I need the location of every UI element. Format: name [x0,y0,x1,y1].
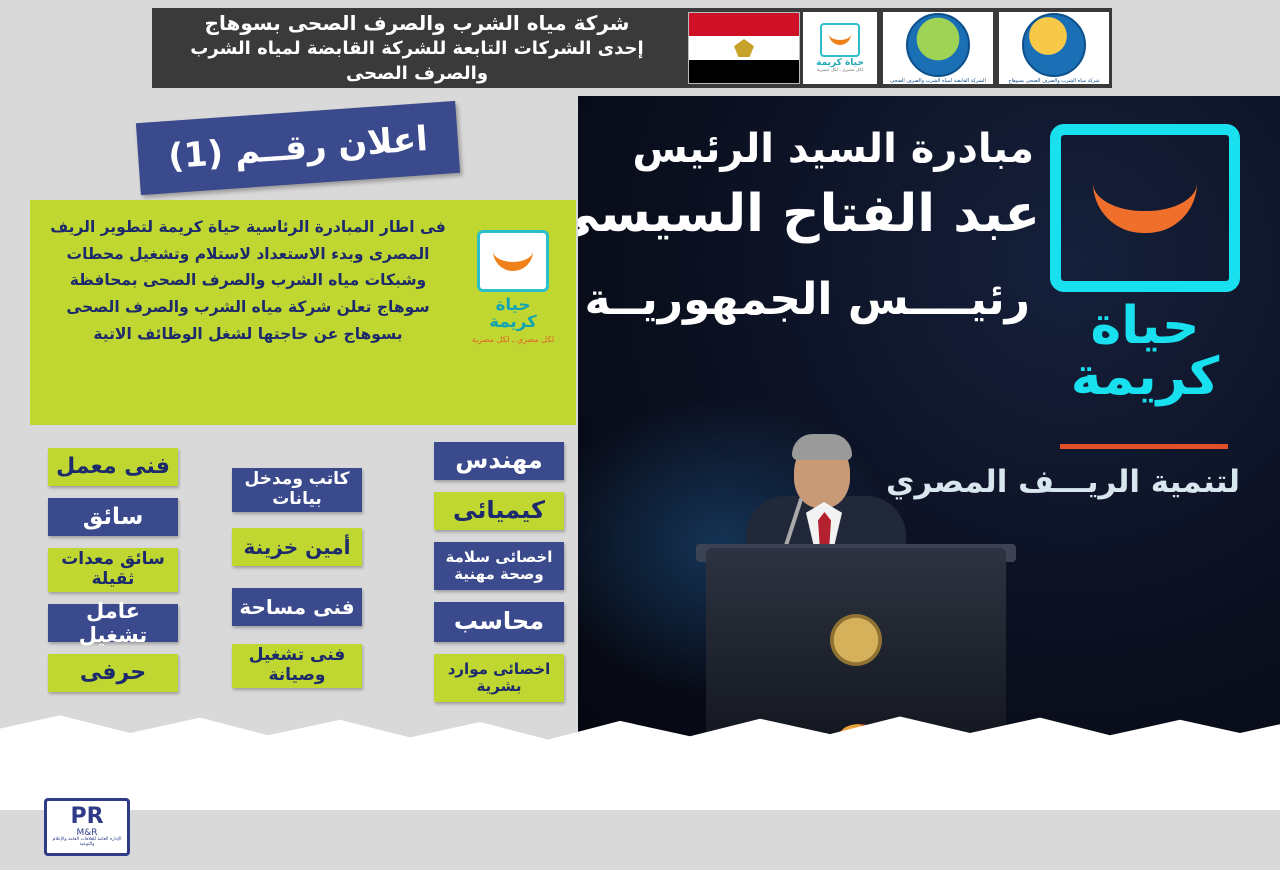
job-chip[interactable]: أمين خزينة [232,528,362,566]
intro-hayah-title: حياة كريمة [489,297,537,330]
smile-icon [1093,183,1197,233]
holding-company-logo: الشركة القابضة لمياه الشرب والصرف الصحى [883,12,993,84]
president-photo: حياة كريمة مبادرة السيد الرئيس عبد الفتا… [578,96,1280,762]
job-chip[interactable]: سائق [48,498,178,536]
photo-brand-line1: حياة [1050,301,1240,352]
company-seal-icon [1022,13,1086,77]
holding-seal-icon [906,13,970,77]
flag-red-band [689,13,799,36]
job-chip[interactable]: فنى تشغيل وصيانة [232,644,362,688]
job-chip[interactable]: محاسب [434,602,564,642]
job-chip[interactable]: حرفى [48,654,178,692]
job-chip[interactable]: فنى معمل [48,448,178,486]
eagle-icon [734,39,754,57]
hayah-title: حياة كريمة [816,59,864,68]
header-text: شركة مياه الشرب والصرف الصحى بسوهاج إحدى… [152,10,682,86]
flag-black-band [689,60,799,83]
job-chip[interactable]: اخصائى موارد بشرية [434,654,564,702]
job-chip[interactable]: مهندس [434,442,564,480]
photo-line-3: رئيــــس الجمهوريــة [584,274,1030,325]
brand-underline [1060,444,1228,449]
smile-icon [829,34,851,45]
announcement-label: اعلان رقــم (1) [167,119,429,177]
photo-line-1: مبادرة السيد الرئيس [632,126,1034,172]
poster-root: شركة مياه الشرب والصرف الصحى بسوهاج الشر… [0,0,1280,870]
header-logos: شركة مياه الشرب والصرف الصحى بسوهاج الشر… [682,8,1112,88]
intro-panel: فى اطار المبادرة الرئاسية حياة كريمة لتط… [30,200,576,425]
logo-caption: الشركة القابضة لمياه الشرب والصرف الصحى [890,78,986,84]
smile-icon [493,251,533,271]
egypt-flag [688,12,800,84]
hayah-motto: لكل مصري ـ لكل مصرية [817,68,863,73]
job-chip[interactable]: كاتب ومدخل بيانات [232,468,362,512]
photo-brand-line2: كريمة [1050,352,1240,403]
intro-hayah-line2: كريمة [489,314,537,331]
job-chip[interactable]: سائق معدات ثقيلة [48,548,178,592]
hayah-karima-logo: حياة كريمة لكل مصري ـ لكل مصرية [803,12,877,84]
photo-line-2: عبد الفتاح السيسي [578,184,1040,244]
announcement-ribbon: اعلان رقــم (1) [136,101,460,195]
job-chip[interactable]: فنى مساحة [232,588,362,626]
pr-logo-main: PR [70,806,103,828]
hair [792,434,852,460]
intro-hayah-karima-logo: حياة كريمة لكل مصري ـ لكل مصرية [458,208,568,417]
intro-body: فى اطار المبادرة الرئاسية حياة كريمة لتط… [38,208,458,417]
logo-caption: شركة مياه الشرب والصرف الصحى بسوهاج [1008,78,1099,84]
pr-logo-note: الإدارة العامة للعلاقات العامة والإعلام … [47,838,127,848]
republic-seal-icon [830,614,882,666]
pr-department-logo: PR M&R الإدارة العامة للعلاقات العامة وا… [44,798,130,856]
header-bar: شركة مياه الشرب والصرف الصحى بسوهاج الشر… [152,8,1112,88]
sohag-water-company-logo: شركة مياه الشرب والصرف الصحى بسوهاج [999,12,1109,84]
photo-brand-title: حياة كريمة [1050,301,1240,403]
job-chip[interactable]: عامل تشغيل [48,604,178,642]
job-list: فنى معمل سائق سائق معدات ثقيلة عامل تشغي… [0,440,580,720]
hayah-square-icon [477,230,549,292]
flag-white-band [689,36,799,59]
footer: PR M&R الإدارة العامة للعلاقات العامة وا… [0,786,1280,870]
hayah-square-icon [820,23,860,57]
intro-hayah-motto: لكل مصري ـ لكل مصرية [472,335,554,344]
hayah-square-icon [1050,124,1240,292]
job-chip[interactable]: اخصائى سلامة وصحة مهنية [434,542,564,590]
header-subtitle: إحدى الشركات التابعة للشركة القابضة لميا… [162,37,672,86]
header-title: شركة مياه الشرب والصرف الصحى بسوهاج [162,10,672,37]
job-chip[interactable]: كيميائى [434,492,564,530]
